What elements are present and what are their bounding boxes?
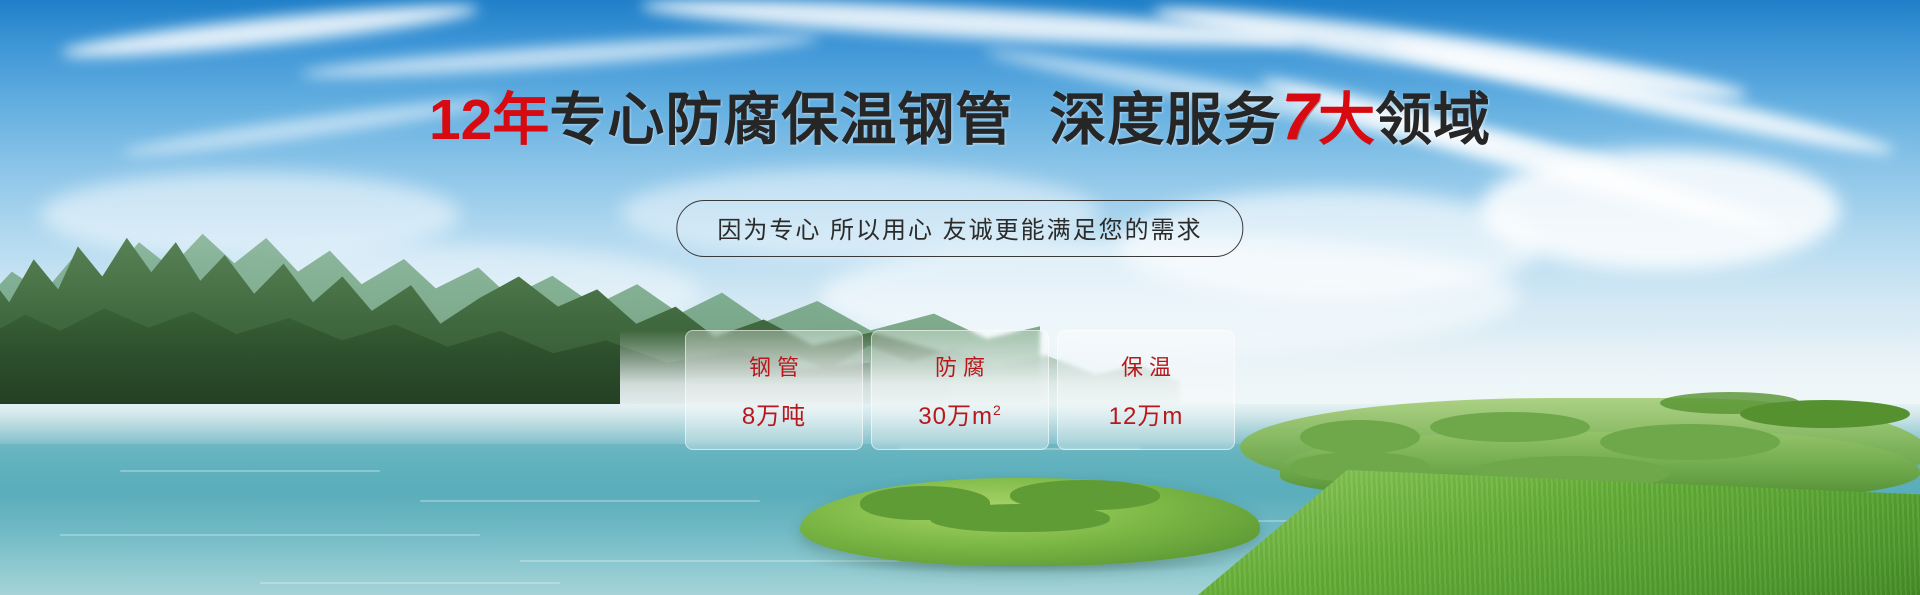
stat-card-insulation[interactable]: 保温 12万m bbox=[1057, 330, 1235, 450]
headline: 12年专心防腐保温钢管深度服务7大领域 bbox=[0, 86, 1920, 150]
water-ripple bbox=[60, 534, 480, 536]
stat-card-value-text: 12万m bbox=[1109, 403, 1184, 430]
stat-card-value: 30万m2 bbox=[918, 396, 1001, 431]
marsh-tuft bbox=[1600, 424, 1780, 460]
stat-card-title: 钢管 bbox=[743, 350, 805, 382]
stat-card-value-text: 8万吨 bbox=[742, 403, 806, 430]
stat-card-steel-pipe[interactable]: 钢管 8万吨 bbox=[685, 330, 863, 450]
subtitle-pill: 因为专心 所以用心 友诚更能满足您的需求 bbox=[676, 200, 1243, 257]
headline-segment-1: 专心防腐保温钢管 bbox=[549, 88, 1013, 152]
island-tuft bbox=[930, 504, 1110, 532]
reed-cluster bbox=[1660, 392, 1800, 414]
marsh-tuft bbox=[1430, 412, 1590, 442]
stat-card-title: 保温 bbox=[1115, 350, 1177, 382]
water-ripple bbox=[120, 470, 380, 472]
stat-card-value: 8万吨 bbox=[742, 396, 806, 431]
headline-years-number: 12 bbox=[429, 88, 492, 152]
stat-card-anticorrosion[interactable]: 防腐 30万m2 bbox=[871, 330, 1049, 450]
water-ripple bbox=[260, 582, 560, 584]
water-ripple bbox=[420, 500, 760, 502]
headline-highlight-number: 7 bbox=[1281, 79, 1318, 153]
headline-years-unit: 年 bbox=[492, 88, 549, 152]
hero-banner: 12年专心防腐保温钢管深度服务7大领域 因为专心 所以用心 友诚更能满足您的需求… bbox=[0, 0, 1920, 595]
stat-card-title: 防腐 bbox=[929, 350, 991, 382]
headline-segment-3: 领域 bbox=[1375, 88, 1491, 152]
marsh-tuft bbox=[1300, 420, 1420, 454]
stat-card-value: 12万m bbox=[1109, 396, 1184, 431]
stat-cards: 钢管 8万吨 防腐 30万m2 保温 12万m bbox=[685, 330, 1235, 450]
headline-highlight-char: 大 bbox=[1318, 88, 1375, 152]
stat-card-value-superscript: 2 bbox=[993, 402, 1002, 418]
stat-card-value-text: 30万m bbox=[918, 403, 993, 430]
headline-segment-2: 深度服务 bbox=[1049, 88, 1281, 152]
